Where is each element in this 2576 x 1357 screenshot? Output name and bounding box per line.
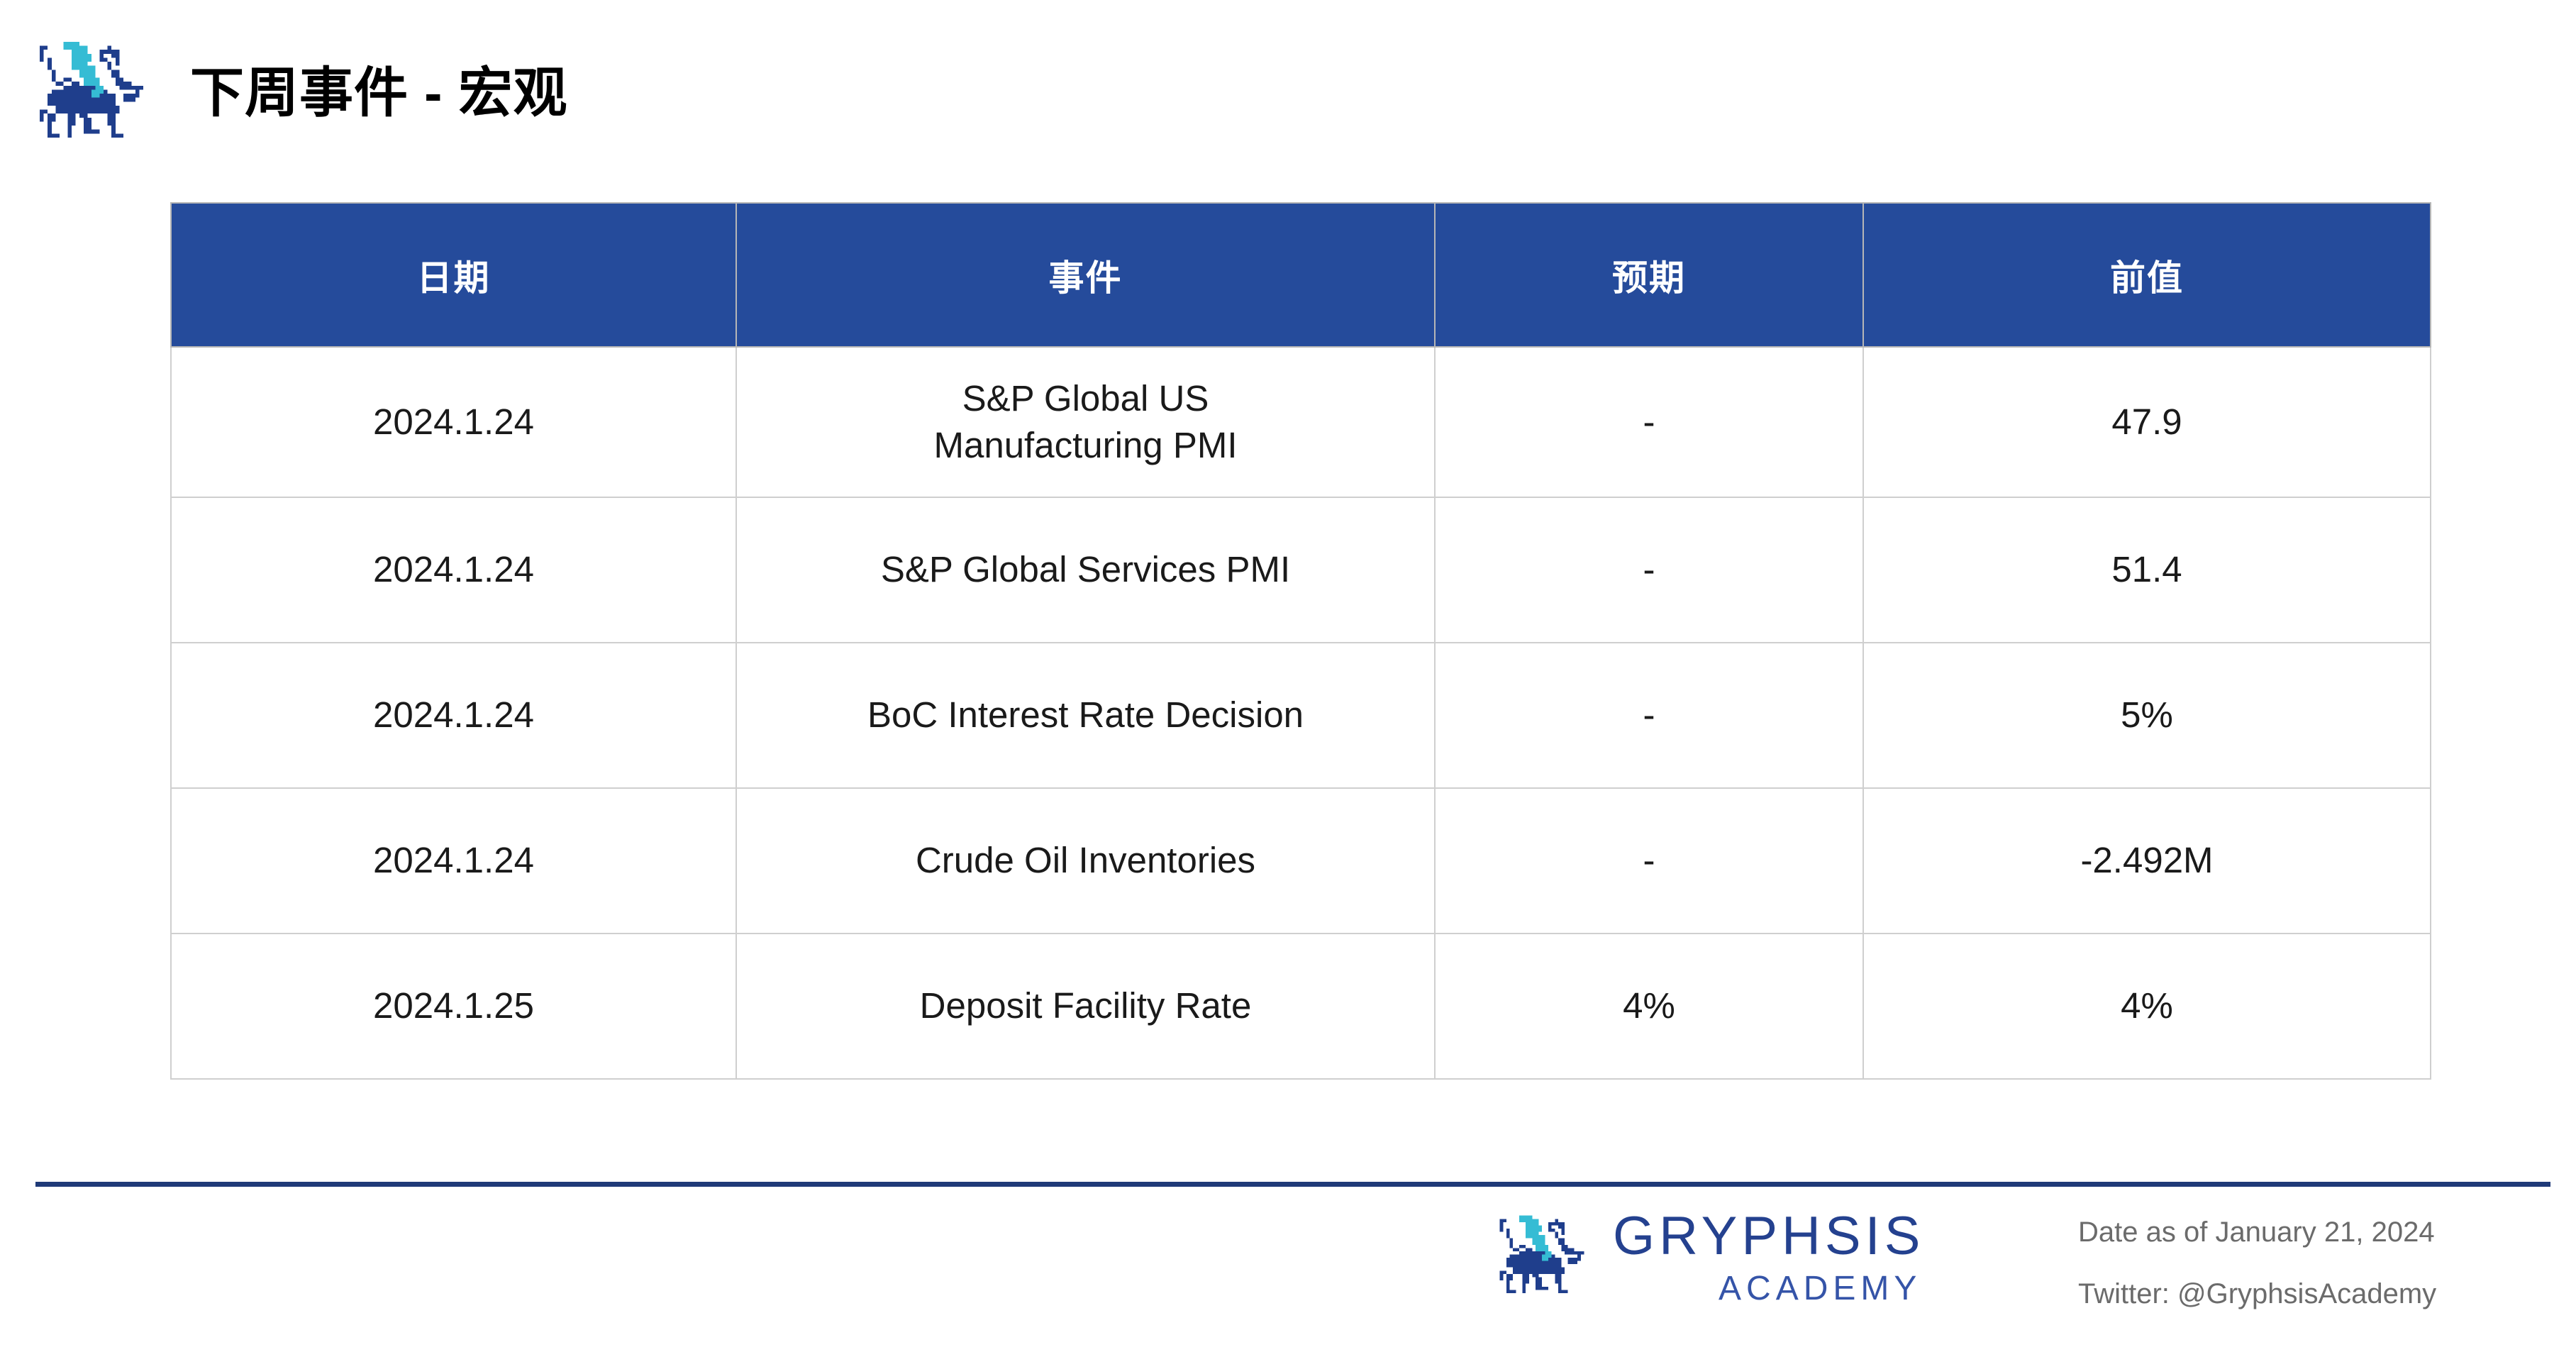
column-header-previous: 前值 bbox=[1863, 203, 2431, 347]
cell-previous: 5% bbox=[1863, 643, 2431, 788]
footer-twitter: Twitter: @GryphsisAcademy bbox=[2078, 1278, 2436, 1310]
gryphsis-griffin-logo-icon bbox=[1489, 1206, 1594, 1309]
cell-previous: 51.4 bbox=[1863, 497, 2431, 643]
cell-event-line2: Manufacturing PMI bbox=[747, 422, 1424, 469]
cell-event: S&P Global Services PMI bbox=[736, 497, 1435, 643]
cell-date: 2024.1.24 bbox=[171, 643, 736, 788]
cell-event-line1: S&P Global US bbox=[747, 375, 1424, 422]
table-row: 2024.1.24 BoC Interest Rate Decision - 5… bbox=[171, 643, 2431, 788]
brand-tagline: ACADEMY bbox=[1719, 1272, 1921, 1306]
footer-divider bbox=[35, 1182, 2550, 1187]
cell-expected: - bbox=[1435, 497, 1863, 643]
cell-date: 2024.1.25 bbox=[171, 934, 736, 1079]
brand-wordmark: GRYPHSIS ACADEMY bbox=[1613, 1209, 1924, 1306]
cell-date: 2024.1.24 bbox=[171, 347, 736, 497]
cell-expected: - bbox=[1435, 643, 1863, 788]
cell-expected: - bbox=[1435, 788, 1863, 934]
cell-previous: 47.9 bbox=[1863, 347, 2431, 497]
table-row: 2024.1.24 S&P Global US Manufacturing PM… bbox=[171, 347, 2431, 497]
column-header-expected: 预期 bbox=[1435, 203, 1863, 347]
cell-date: 2024.1.24 bbox=[171, 497, 736, 643]
slide-canvas: 下周事件 - 宏观 日期 事件 预期 前值 2024.1.24 S&P Glob… bbox=[0, 0, 2576, 1357]
cell-expected: 4% bbox=[1435, 934, 1863, 1079]
slide-header: 下周事件 - 宏观 bbox=[27, 30, 568, 157]
macro-events-table: 日期 事件 预期 前值 2024.1.24 S&P Global US Manu… bbox=[170, 202, 2431, 1080]
footer-date: Date as of January 21, 2024 bbox=[2078, 1217, 2436, 1248]
cell-event: S&P Global US Manufacturing PMI bbox=[736, 347, 1435, 497]
table-row: 2024.1.25 Deposit Facility Rate 4% 4% bbox=[171, 934, 2431, 1079]
table-row: 2024.1.24 S&P Global Services PMI - 51.4 bbox=[171, 497, 2431, 643]
column-header-date: 日期 bbox=[171, 203, 736, 347]
table-row: 2024.1.24 Crude Oil Inventories - -2.492… bbox=[171, 788, 2431, 934]
footer-meta: Date as of January 21, 2024 Twitter: @Gr… bbox=[2078, 1217, 2436, 1310]
cell-expected: - bbox=[1435, 347, 1863, 497]
footer-brand: GRYPHSIS ACADEMY bbox=[1489, 1206, 1924, 1309]
table-header-row: 日期 事件 预期 前值 bbox=[171, 203, 2431, 347]
cell-event: BoC Interest Rate Decision bbox=[736, 643, 1435, 788]
cell-previous: -2.492M bbox=[1863, 788, 2431, 934]
gryphsis-griffin-logo-icon bbox=[27, 30, 156, 157]
brand-name: GRYPHSIS bbox=[1613, 1209, 1924, 1263]
cell-event: Crude Oil Inventories bbox=[736, 788, 1435, 934]
cell-event: Deposit Facility Rate bbox=[736, 934, 1435, 1079]
cell-previous: 4% bbox=[1863, 934, 2431, 1079]
page-title: 下周事件 - 宏观 bbox=[190, 67, 568, 121]
cell-date: 2024.1.24 bbox=[171, 788, 736, 934]
column-header-event: 事件 bbox=[736, 203, 1435, 347]
